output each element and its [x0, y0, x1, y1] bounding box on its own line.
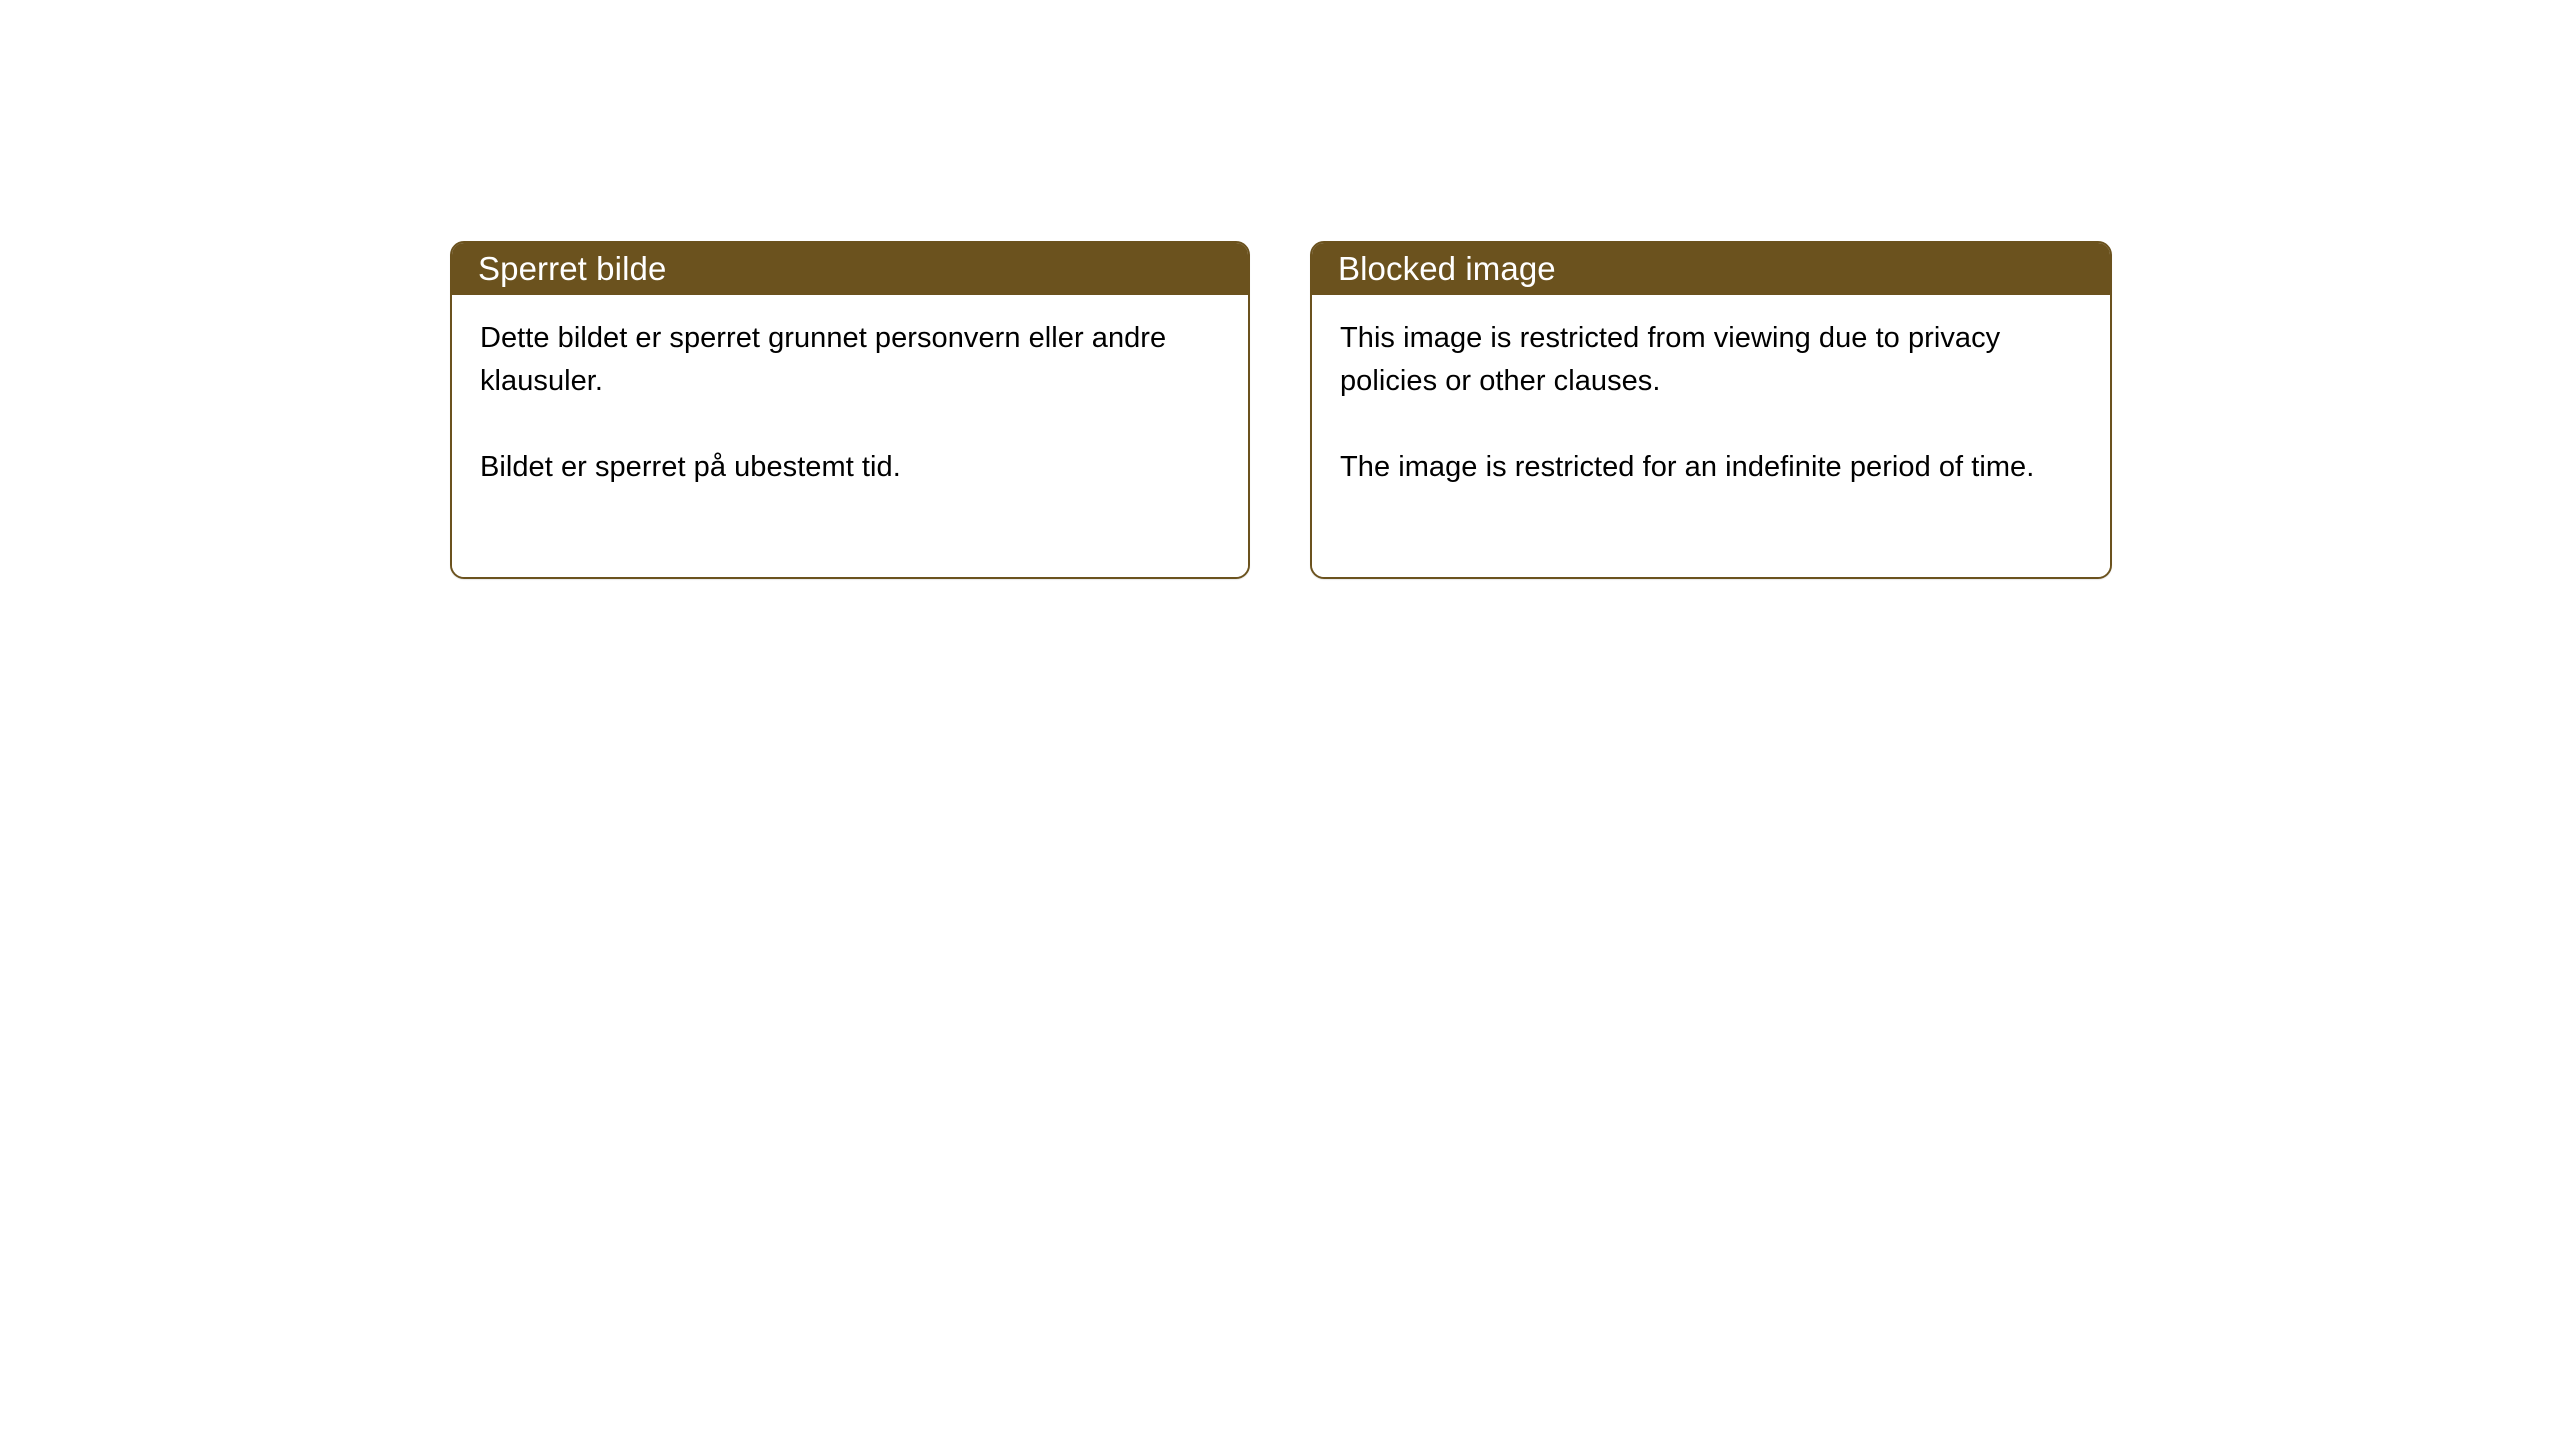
card-header-en: Blocked image [1312, 243, 2110, 295]
card-body-no: Dette bildet er sperret grunnet personve… [452, 295, 1248, 577]
card-paragraph-secondary-no: Bildet er sperret på ubestemt tid. [480, 446, 1210, 489]
card-paragraph-primary-en: This image is restricted from viewing du… [1340, 317, 2070, 403]
blocked-image-card-no: Sperret bilde Dette bildet er sperret gr… [450, 241, 1250, 579]
card-body-en: This image is restricted from viewing du… [1312, 295, 2110, 577]
blocked-image-card-en: Blocked image This image is restricted f… [1310, 241, 2112, 579]
blocked-image-notice-group: Sperret bilde Dette bildet er sperret gr… [450, 241, 2112, 579]
card-title-no: Sperret bilde [478, 243, 666, 294]
card-header-no: Sperret bilde [452, 243, 1248, 295]
card-paragraph-secondary-en: The image is restricted for an indefinit… [1340, 446, 2070, 489]
card-title-en: Blocked image [1338, 243, 1556, 294]
card-paragraph-primary-no: Dette bildet er sperret grunnet personve… [480, 317, 1210, 403]
page-root: Sperret bilde Dette bildet er sperret gr… [0, 0, 2560, 1440]
